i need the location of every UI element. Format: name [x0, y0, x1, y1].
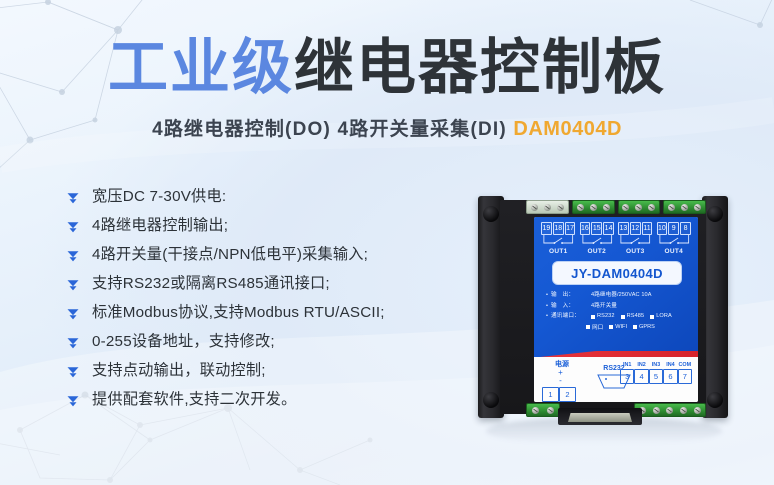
top-terminal-strip	[526, 200, 706, 214]
model-highlight: DAM0404D	[513, 118, 621, 140]
input-label: COM	[678, 362, 692, 368]
double-chevron-down-icon	[66, 244, 92, 268]
screw-icon	[694, 204, 701, 211]
feature-text: 支持点动输出，联动控制;	[92, 360, 266, 382]
spec-row: • 输 入： 4路开关量	[546, 302, 692, 311]
terminal-block	[526, 200, 569, 214]
double-chevron-down-icon	[66, 186, 92, 210]
device-spec-list: • 输 出： 4路继电器/250VAC 10A • 输 入： 4路开关量 • 通…	[546, 291, 692, 331]
screw-icon	[532, 407, 539, 414]
output-label: OUT3	[618, 248, 653, 256]
terminal-block	[526, 403, 560, 417]
terminal-number-row: 19 18 17	[541, 222, 576, 235]
screw-icon	[547, 407, 554, 414]
screw-icon	[680, 407, 687, 414]
subtitle-text: 4路继电器控制(DO) 4路开关量采集(DI)	[152, 119, 507, 140]
spec-row: • 输 出： 4路继电器/250VAC 10A	[546, 291, 692, 300]
input-label: IN1	[620, 362, 634, 368]
list-item: 标准Modbus协议,支持Modbus RTU/ASCII;	[66, 302, 466, 331]
product-device-image: 19 18 17 OUT1	[478, 196, 728, 418]
terminal-number: 6	[663, 369, 677, 384]
output-group: 10 9 8 OUT4	[657, 222, 692, 256]
double-chevron-down-icon	[66, 389, 92, 413]
ports-label: 通讯端口：	[551, 312, 591, 321]
page-subtitle: 4路继电器控制(DO) 4路开关量采集(DI) DAM0404D	[0, 117, 774, 142]
screw-icon	[648, 204, 655, 211]
terminal-block	[572, 200, 615, 214]
feature-text: 4路开关量(干接点/NPN低电平)采集输入;	[92, 244, 368, 266]
port-label: 网口	[592, 323, 603, 331]
terminal-block	[634, 403, 706, 417]
output-group: 13 12 11 OUT3	[618, 222, 653, 256]
relay-symbol-icon	[541, 235, 576, 248]
screw-icon	[590, 204, 597, 211]
terminal-number: 9	[668, 222, 679, 235]
output-label: OUT2	[580, 248, 615, 256]
terminal-number: 14	[603, 222, 614, 235]
mount-hole-icon	[707, 206, 723, 222]
port-label: RS232	[597, 312, 615, 321]
output-label: OUT4	[657, 248, 692, 256]
mount-hole-icon	[483, 206, 499, 222]
product-banner: 工业级继电器控制板 4路继电器控制(DO) 4路开关量采集(DI) DAM040…	[0, 0, 774, 485]
terminal-number: 17	[565, 222, 576, 235]
spec-label: 输 出：	[551, 291, 591, 300]
terminal-block	[618, 200, 661, 214]
spec-label: 输 入：	[551, 302, 591, 311]
terminal-number: 2	[559, 387, 576, 402]
mount-hole-icon	[707, 392, 723, 408]
device-housing: 19 18 17 OUT1	[500, 200, 706, 414]
list-item: 0-255设备地址，支持修改;	[66, 331, 466, 360]
list-item: 支持RS232或隔离RS485通讯接口;	[66, 273, 466, 302]
list-item: 4路开关量(干接点/NPN低电平)采集输入;	[66, 244, 466, 273]
terminal-number: 5	[649, 369, 663, 384]
terminal-number: 10	[657, 222, 668, 235]
terminal-number: 1	[542, 387, 559, 402]
spec-row-ports: • 通讯端口： RS232 RS485 LORA	[546, 312, 692, 321]
list-item: 宽压DC 7-30V供电:	[66, 186, 466, 215]
port-option: RS485	[621, 312, 645, 321]
double-chevron-down-icon	[66, 331, 92, 355]
power-terminal-numbers: 1 2	[542, 387, 582, 402]
terminal-block	[663, 200, 706, 214]
relay-symbol-icon	[580, 235, 615, 248]
page-title: 工业级继电器控制板	[0, 36, 774, 100]
terminal-number: 15	[591, 222, 602, 235]
port-option: RS232	[591, 312, 615, 321]
screw-icon	[666, 407, 673, 414]
terminal-number-row: 10 9 8	[657, 222, 692, 235]
output-label: OUT1	[541, 248, 576, 256]
terminal-number: 18	[553, 222, 564, 235]
terminal-number: 7	[678, 369, 692, 384]
feature-list: 宽压DC 7-30V供电: 4路继电器控制输出; 4路开关量(干接点/NPN低电…	[66, 186, 466, 418]
checkbox-icon	[650, 315, 654, 319]
terminal-number: 4	[634, 369, 648, 384]
feature-text: 标准Modbus协议,支持Modbus RTU/ASCII;	[92, 302, 385, 324]
output-group: 16 15 14 OUT2	[580, 222, 615, 256]
feature-text: 宽压DC 7-30V供电:	[92, 186, 226, 208]
screw-icon	[544, 204, 551, 211]
terminal-number-row: 16 15 14	[580, 222, 615, 235]
screw-icon	[531, 204, 538, 211]
port-option: 网口	[586, 323, 603, 331]
feature-text: 4路继电器控制输出;	[92, 215, 228, 237]
double-chevron-down-icon	[66, 215, 92, 239]
list-item: 支持点动输出，联动控制;	[66, 360, 466, 389]
power-terminal-group: 电源 + - 1 2	[542, 360, 582, 402]
screw-icon	[557, 204, 564, 211]
relay-symbol-icon	[657, 235, 692, 248]
double-chevron-down-icon	[66, 360, 92, 384]
ports-row-1: RS232 RS485 LORA	[591, 312, 692, 321]
mount-hole-icon	[483, 392, 499, 408]
relay-symbol-icon	[618, 235, 653, 248]
port-label: RS485	[627, 312, 645, 321]
screw-icon	[681, 204, 688, 211]
terminal-number: 16	[580, 222, 591, 235]
terminal-number: 8	[680, 222, 691, 235]
device-model-badge: JY-DAM0404D	[552, 261, 682, 285]
double-chevron-down-icon	[66, 302, 92, 326]
power-polarity-label: + -	[542, 369, 582, 385]
output-group: 19 18 17 OUT1	[541, 222, 576, 256]
checkbox-icon	[621, 315, 625, 319]
output-terminal-map: 19 18 17 OUT1	[541, 222, 691, 256]
terminal-number-row: 13 12 11	[618, 222, 653, 235]
feature-text: 支持RS232或隔离RS485通讯接口;	[92, 273, 330, 295]
terminal-number: 19	[541, 222, 552, 235]
title-part-1: 工业级	[108, 34, 294, 101]
checkbox-icon	[586, 325, 590, 329]
list-item: 提供配套软件,支持二次开发。	[66, 389, 466, 418]
port-label: GPRS	[639, 324, 655, 330]
input-label: IN2	[634, 362, 648, 368]
screw-icon	[622, 204, 629, 211]
terminal-number: 3	[620, 369, 634, 384]
screw-icon	[603, 204, 610, 211]
title-part-2: 继电器控制板	[294, 34, 666, 101]
input-terminal-numbers: 3 4 5 6 7	[620, 369, 692, 384]
port-option: GPRS	[633, 323, 655, 331]
double-chevron-down-icon	[66, 273, 92, 297]
terminal-number: 11	[642, 222, 653, 235]
terminal-number: 13	[618, 222, 629, 235]
ports-row-2: 网口 WIFI GPRS	[586, 323, 692, 331]
port-option: LORA	[650, 312, 672, 321]
checkbox-icon	[609, 325, 613, 329]
input-terminal-group: IN1 IN2 IN3 IN4 COM 3 4 5 6 7	[620, 362, 692, 384]
list-item: 4路继电器控制输出;	[66, 215, 466, 244]
input-label: IN3	[649, 362, 663, 368]
checkbox-icon	[591, 315, 595, 319]
device-front-label: 19 18 17 OUT1	[534, 217, 698, 402]
screw-icon	[653, 407, 660, 414]
feature-text: 提供配套软件,支持二次开发。	[92, 389, 296, 411]
checkbox-icon	[633, 325, 637, 329]
input-label: IN4	[663, 362, 677, 368]
input-label-row: IN1 IN2 IN3 IN4 COM	[620, 362, 692, 368]
feature-text: 0-255设备地址，支持修改;	[92, 331, 275, 353]
terminal-number: 12	[630, 222, 641, 235]
screw-icon	[577, 204, 584, 211]
port-label: WIFI	[615, 324, 627, 330]
spec-value: 4路继电器/250VAC 10A	[591, 291, 692, 300]
port-label: LORA	[656, 312, 672, 321]
db9-serial-port	[558, 408, 642, 425]
spec-value: 4路开关量	[591, 302, 692, 311]
screw-icon	[668, 204, 675, 211]
screw-icon	[635, 204, 642, 211]
bottom-connector-map: 电源 + - 1 2 RS232	[534, 358, 698, 402]
port-option: WIFI	[609, 323, 627, 331]
screw-icon	[694, 407, 701, 414]
